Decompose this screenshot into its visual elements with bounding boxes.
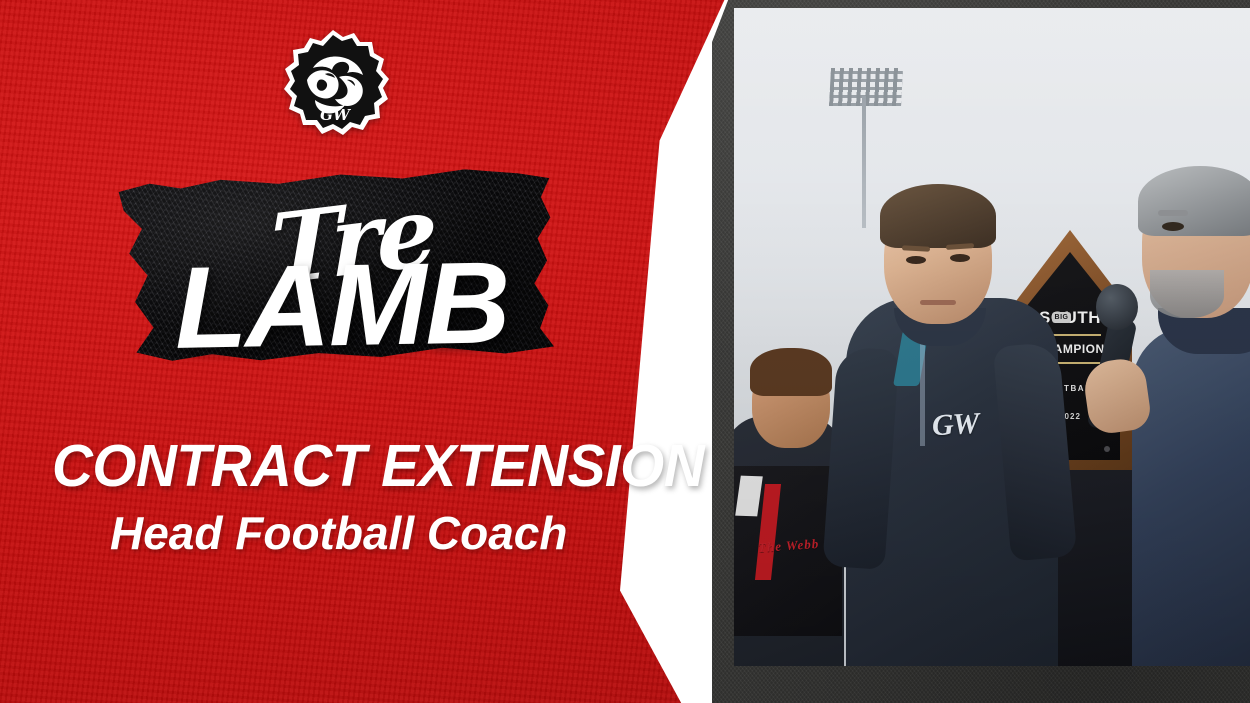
interviewer-hair — [1138, 166, 1250, 236]
coach-hair — [880, 184, 996, 248]
svg-text:GW: GW — [320, 106, 352, 124]
interviewer-beard — [1150, 270, 1224, 318]
coach-mouth — [920, 300, 956, 305]
microphone-icon — [1096, 284, 1138, 330]
coach-eye — [950, 254, 970, 262]
interviewer-eye — [1162, 222, 1184, 231]
stadium-light-icon — [829, 68, 903, 106]
interviewer-body — [1132, 326, 1250, 666]
team-photo: The Webb SOUTH BIG CHAMPION FOOTBALL 202… — [734, 8, 1250, 666]
player-hair — [750, 348, 832, 396]
coach-last-name: LAMB — [174, 244, 510, 366]
coach-eye — [906, 256, 926, 264]
coach-name-block: Tre LAMB — [120, 175, 580, 365]
trophy-screw — [1104, 446, 1110, 452]
announcement-subtitle: Head Football Coach — [110, 510, 650, 556]
big-south-mark: BIG — [1052, 312, 1071, 323]
jacket-monogram: GW — [931, 407, 979, 443]
gardner-webb-bulldog-logo-icon: GW — [275, 28, 395, 143]
announcement-headline: CONTRACT EXTENSION — [52, 437, 618, 496]
announcement-graphic: The Webb SOUTH BIG CHAMPION FOOTBALL 202… — [0, 0, 1250, 703]
interviewer-brow — [1158, 210, 1188, 216]
